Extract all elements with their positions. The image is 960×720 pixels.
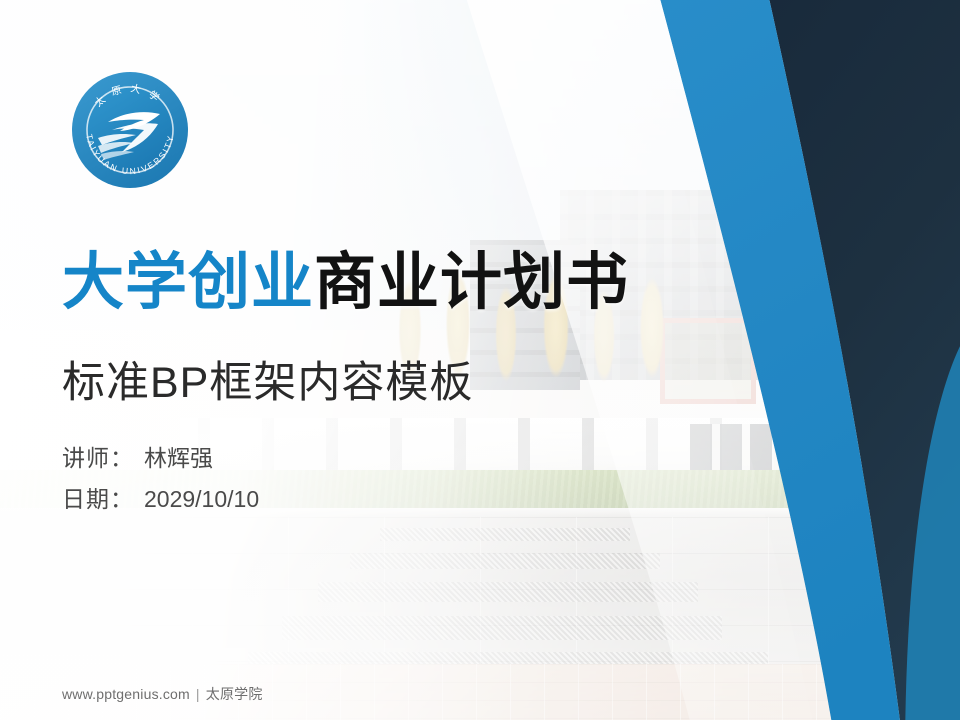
date-label: 日期：	[62, 486, 134, 512]
university-logo: TAIYUAN UNIVERSITY 太原大学	[68, 68, 192, 192]
presenter-label: 讲师：	[62, 445, 134, 471]
slide-footer: www.pptgenius.com|太原学院	[62, 684, 263, 704]
title-dark-part: 商业计划书	[314, 248, 629, 317]
slide-subtitle: 标准BP框架内容模板	[62, 348, 473, 410]
slide-meta: 讲师：林辉强 日期：2029/10/10	[62, 438, 259, 520]
presenter-row: 讲师：林辉强	[62, 438, 259, 479]
footer-org: 太原学院	[206, 686, 263, 702]
date-value: 2029/10/10	[144, 486, 259, 512]
title-slide: TAIYUAN UNIVERSITY 太原大学 大学创业商业计划书 标准BP框架…	[0, 0, 960, 720]
presenter-value: 林辉强	[144, 445, 213, 471]
footer-separator: |	[196, 686, 200, 702]
slide-title: 大学创业商业计划书	[62, 252, 629, 314]
university-logo-icon: TAIYUAN UNIVERSITY 太原大学	[68, 68, 192, 192]
footer-site: www.pptgenius.com	[62, 686, 190, 702]
date-row: 日期：2029/10/10	[62, 479, 259, 520]
title-blue-part: 大学创业	[62, 248, 314, 317]
